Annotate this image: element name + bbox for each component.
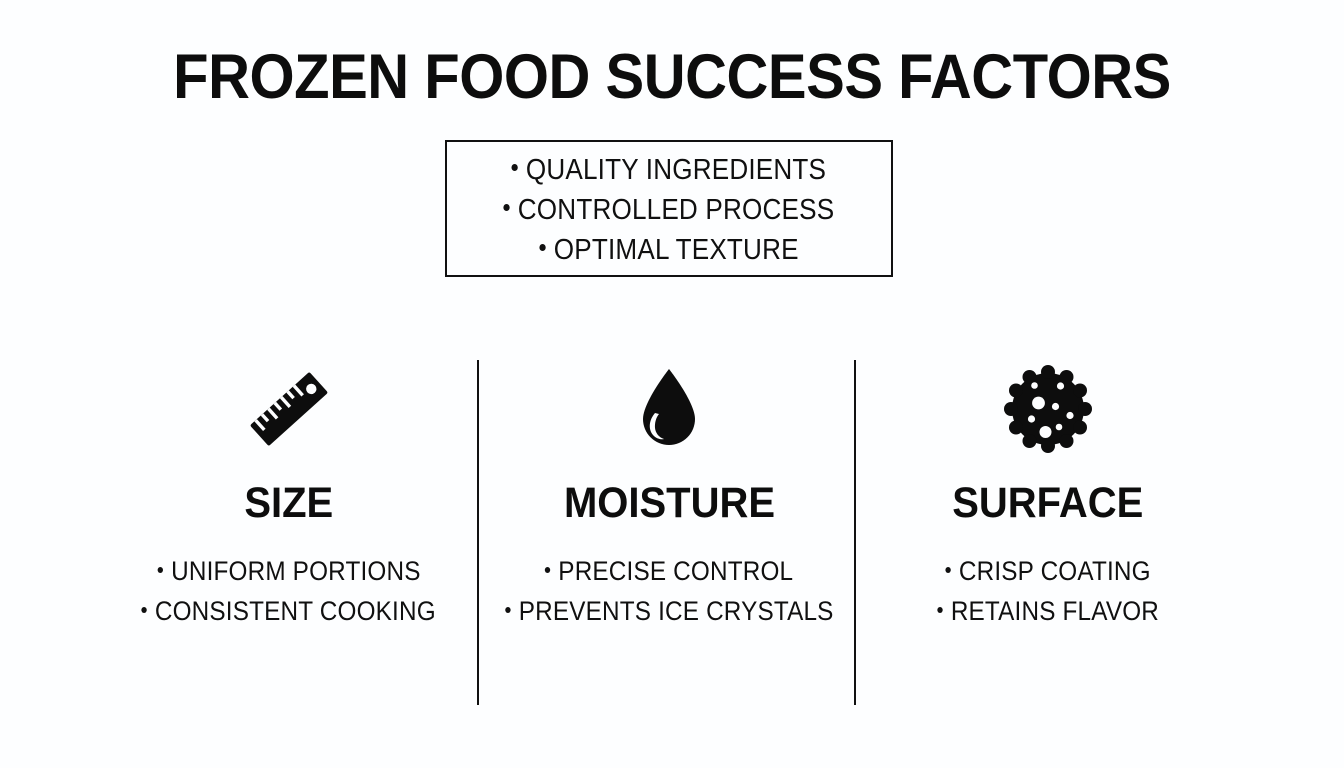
column-heading: SIZE: [245, 481, 334, 525]
bullet-dot-icon: [512, 164, 518, 171]
list-item: CONSISTENT COOKING: [142, 591, 436, 631]
factor-item: OPTIMAL TEXTURE: [539, 230, 798, 270]
list-item-label: PREVENTS ICE CRYSTALS: [518, 596, 833, 626]
bullet-dot-icon: [142, 607, 147, 613]
cookie-icon: [998, 355, 1098, 463]
list-item-label: PRECISE CONTROL: [558, 556, 793, 586]
factor-item: CONTROLLED PROCESS: [504, 190, 835, 230]
column-bullet-list: PRECISE CONTROL PREVENTS ICE CRYSTALS: [487, 551, 852, 631]
bullet-dot-icon: [504, 204, 510, 211]
list-item: PREVENTS ICE CRYSTALS: [505, 591, 833, 631]
page-title: FROZEN FOOD SUCCESS FACTORS: [54, 44, 1290, 110]
list-item-label: CONSISTENT COOKING: [155, 596, 436, 626]
list-item: UNIFORM PORTIONS: [157, 551, 420, 591]
list-item: CRISP COATING: [945, 551, 1150, 591]
key-factors-box: QUALITY INGREDIENTS CONTROLLED PROCESS O…: [445, 140, 893, 277]
factor-item: QUALITY INGREDIENTS: [512, 150, 827, 190]
column-moisture: MOISTURE PRECISE CONTROL PREVENTS ICE CR…: [484, 355, 854, 631]
infographic-canvas: FROZEN FOOD SUCCESS FACTORS QUALITY INGR…: [0, 0, 1344, 768]
column-size: SIZE UNIFORM PORTIONS CONSISTENT COOKING: [104, 355, 474, 631]
list-item: RETAINS FLAVOR: [937, 591, 1159, 631]
bullet-dot-icon: [937, 607, 942, 613]
factor-item-label: OPTIMAL TEXTURE: [554, 234, 799, 266]
ruler-icon: [239, 355, 339, 463]
column-bullet-list: UNIFORM PORTIONS CONSISTENT COOKING: [125, 551, 452, 631]
column-divider-right: [854, 360, 856, 705]
factor-item-label: CONTROLLED PROCESS: [518, 194, 835, 226]
factor-item-label: QUALITY INGREDIENTS: [526, 154, 826, 186]
column-divider-left: [477, 360, 479, 705]
column-heading: MOISTURE: [563, 481, 774, 525]
bullet-dot-icon: [545, 567, 550, 573]
list-item-label: CRISP COATING: [959, 556, 1151, 586]
column-heading: SURFACE: [952, 481, 1143, 525]
list-item-label: RETAINS FLAVOR: [951, 596, 1159, 626]
bullet-dot-icon: [945, 567, 950, 573]
column-surface: SURFACE CRISP COATING RETAINS FLAVOR: [863, 355, 1233, 631]
list-item: PRECISE CONTROL: [545, 551, 793, 591]
list-item-label: UNIFORM PORTIONS: [171, 556, 420, 586]
bullet-dot-icon: [505, 607, 510, 613]
bullet-dot-icon: [539, 244, 545, 251]
column-bullet-list: CRISP COATING RETAINS FLAVOR: [925, 551, 1171, 631]
water-droplet-icon: [619, 355, 719, 463]
bullet-dot-icon: [157, 567, 162, 573]
